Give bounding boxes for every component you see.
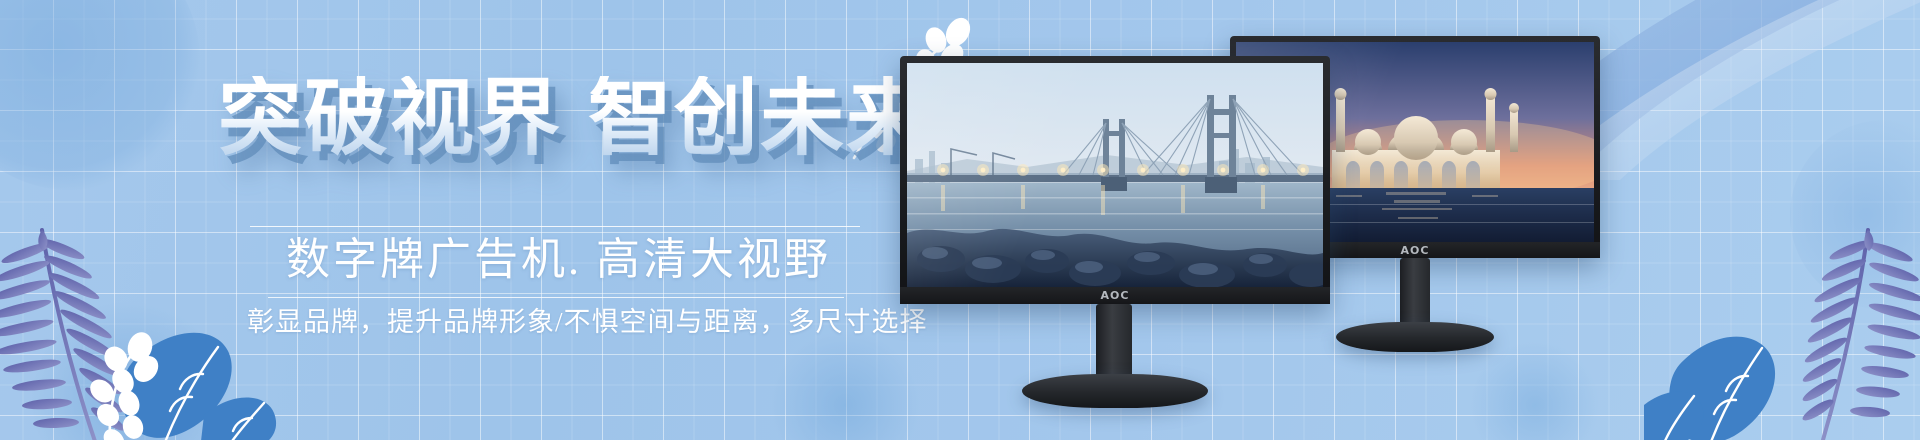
- monitor-large-screen-image: [907, 63, 1323, 287]
- copy-block: 突破视界智创未来 数字牌广告机. 高清大视野 彰显品牌，提升品牌形象/不惧空间与…: [0, 0, 900, 440]
- monitor-large: AOC: [900, 56, 1330, 412]
- divider-top: [250, 226, 860, 227]
- aoc-logo-large: AOC: [1101, 289, 1130, 302]
- aoc-logo-small: AOC: [1401, 244, 1430, 257]
- monitor-small-stand-base: [1336, 322, 1494, 352]
- monitor-large-stand-base: [1022, 374, 1208, 408]
- monitor-large-stand-neck: [1096, 304, 1132, 384]
- headline-part-1: 突破视界: [218, 69, 562, 167]
- monitor-small-stand-neck: [1400, 258, 1430, 330]
- tagline: 彰显品牌，提升品牌形象/不惧空间与距离，多尺寸选择: [247, 305, 928, 340]
- subtitle: 数字牌广告机. 高清大视野: [286, 232, 831, 287]
- monitor-large-chin: AOC: [900, 287, 1330, 304]
- product-group: AOC: [880, 0, 1920, 440]
- promo-banner: 突破视界智创未来 数字牌广告机. 高清大视野 彰显品牌，提升品牌形象/不惧空间与…: [0, 0, 1920, 440]
- page-title: 突破视界智创未来: [218, 76, 932, 160]
- divider-bottom: [268, 297, 844, 298]
